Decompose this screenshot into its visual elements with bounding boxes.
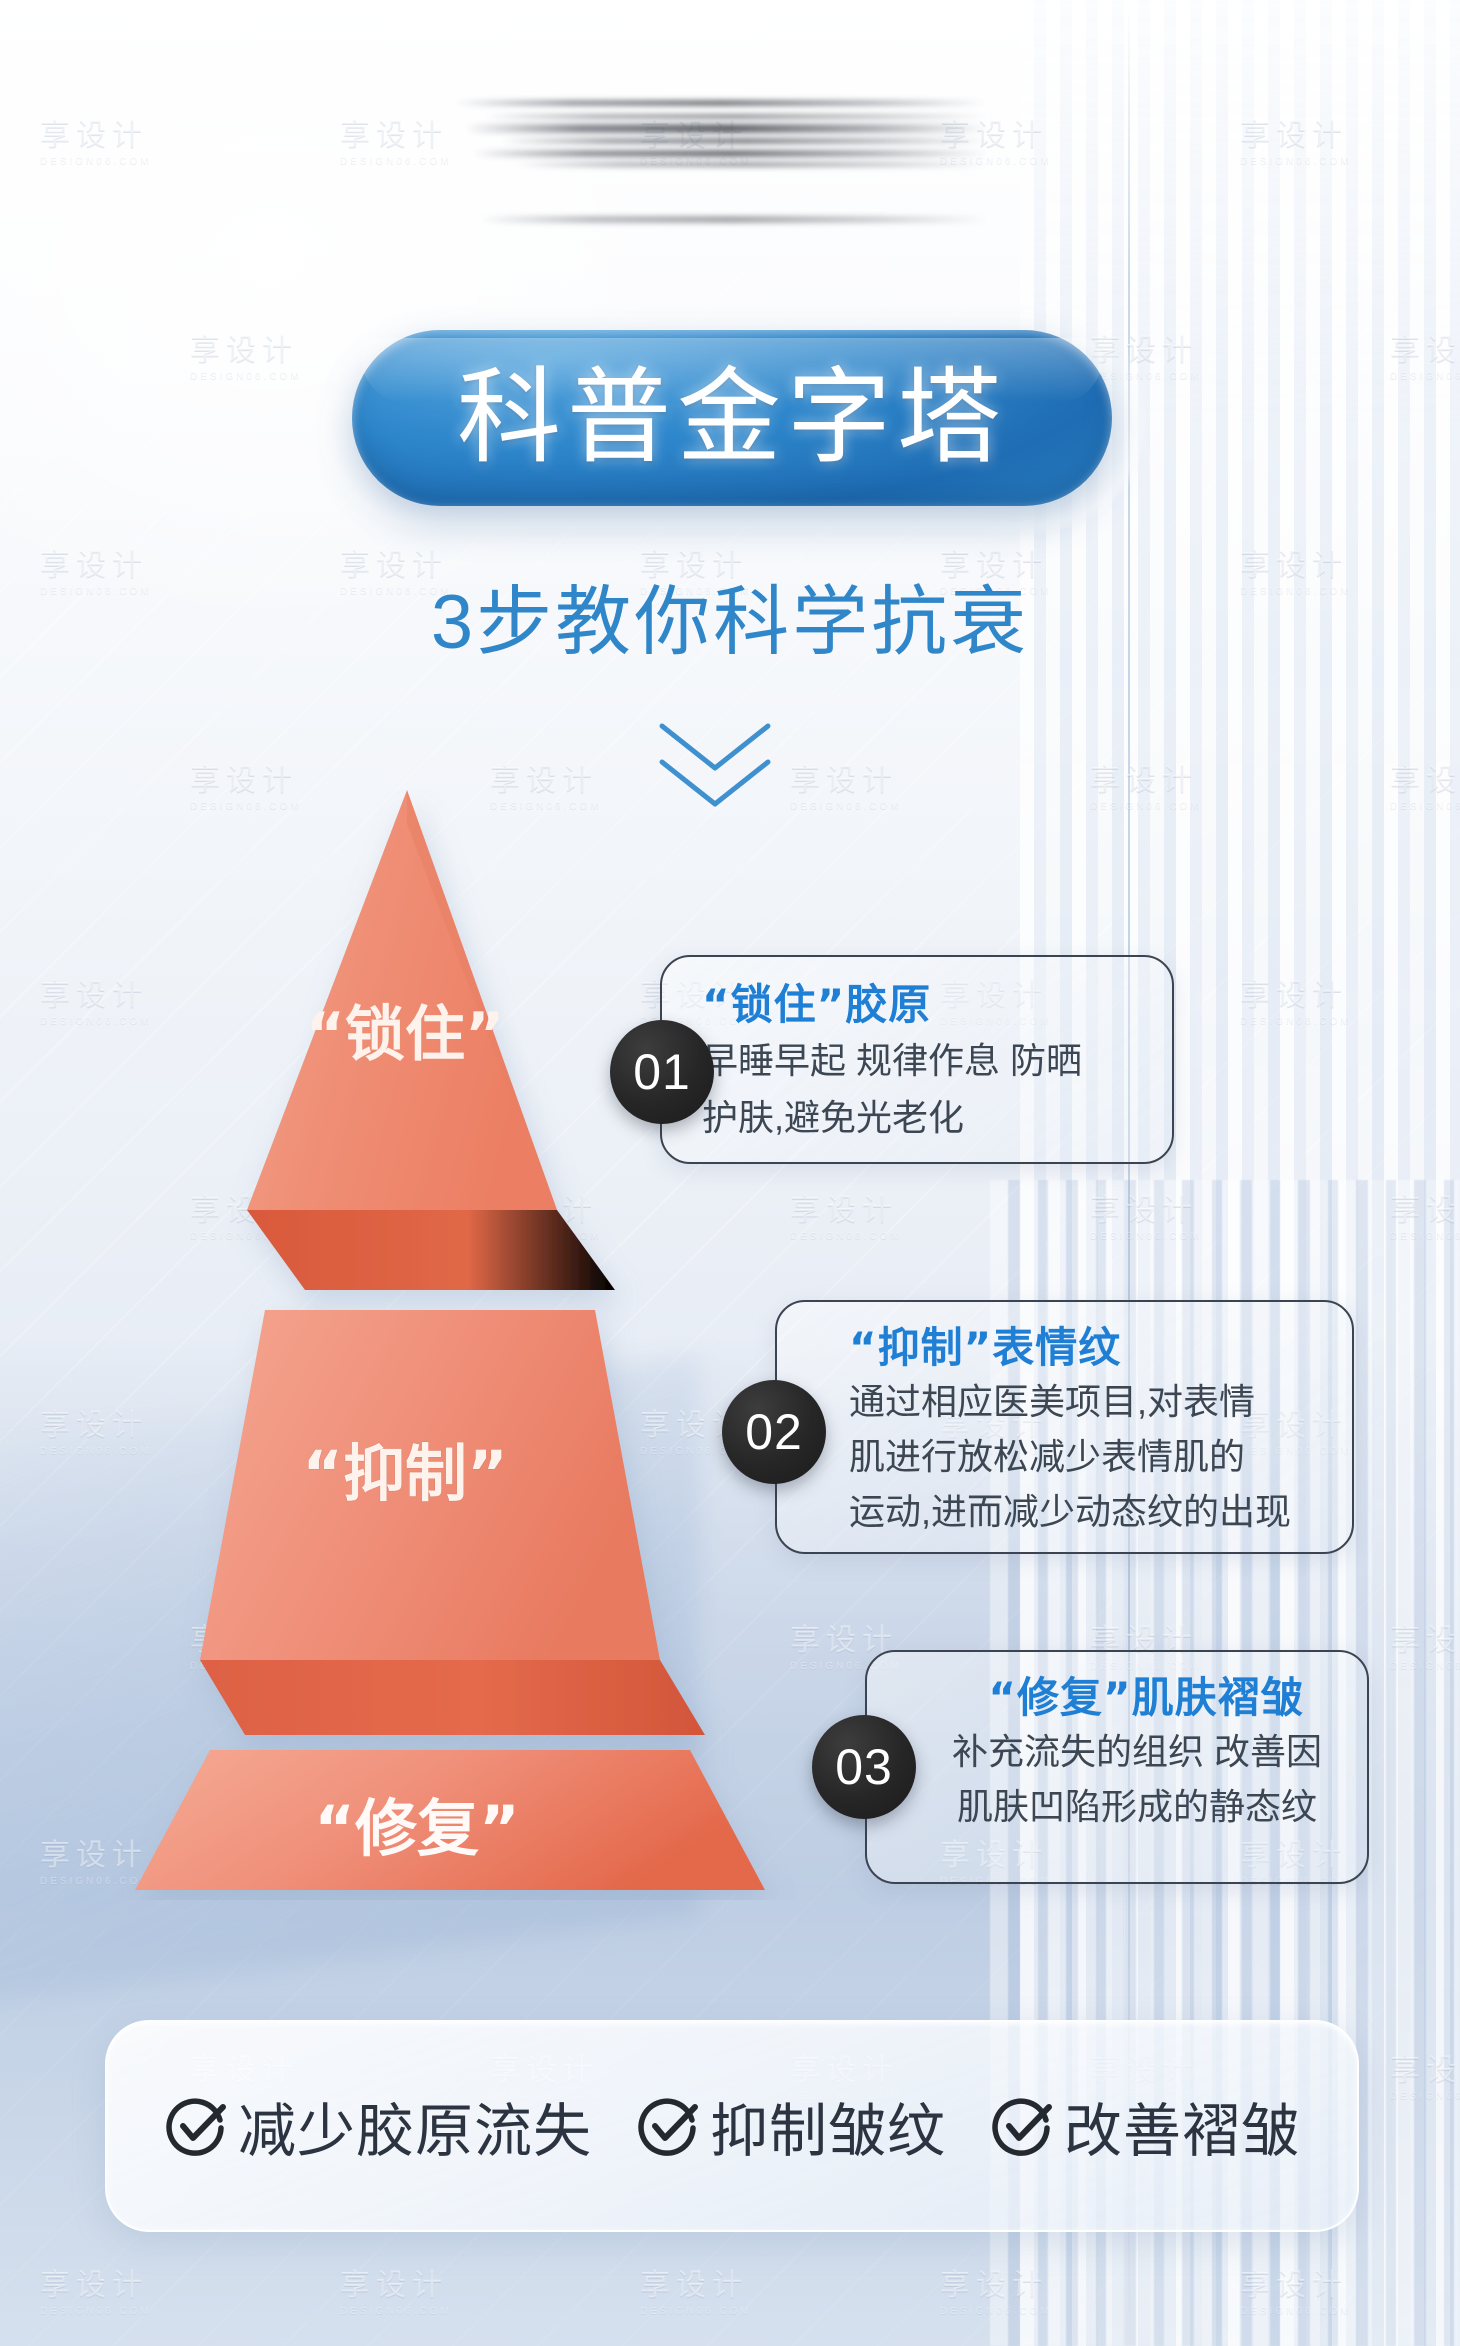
header-blur-bar	[501, 138, 987, 144]
step-card-1[interactable]: “锁住”胶原 早睡早起 规律作息 防晒 护肤,避免光老化	[660, 955, 1174, 1164]
page-subtitle: 3步教你科学抗衰	[0, 560, 1460, 670]
step-card-3-title: “修复”肌肤褶皱	[867, 1652, 1367, 1722]
header-blur-bar	[479, 216, 987, 223]
pyramid-tier-label-2: “抑制”	[302, 1437, 508, 1510]
poster-canvas: 享设计DESIGN06.COM享设计DESIGN06.COM享设计DESIGN0…	[0, 0, 1460, 2346]
step-card-1-line2: 护肤,避免光老化	[662, 1086, 1172, 1143]
step-card-2-line2: 肌进行放松减少表情肌的	[777, 1427, 1352, 1482]
step-number-badge-1: 01	[610, 1020, 714, 1124]
page-title: 科普金字塔	[457, 366, 1007, 470]
header-blur-bar	[465, 124, 987, 133]
check-circle-icon	[636, 2094, 700, 2158]
header-blurred-text-decoration	[455, 100, 995, 240]
step-card-2-title: “抑制”表情纹	[777, 1302, 1352, 1372]
step-card-3-line2: 肌肤凹陷形成的静态纹	[867, 1777, 1367, 1832]
step-number-badge-3: 03	[812, 1715, 916, 1819]
header-blur-bar	[473, 150, 987, 157]
header-blur-bar	[515, 162, 987, 167]
step-card-3[interactable]: “修复”肌肤褶皱 补充流失的组织 改善因 肌肤凹陷形成的静态纹	[865, 1650, 1369, 1884]
step-number-badge-2: 02	[722, 1380, 826, 1484]
header-blur-bar	[485, 114, 987, 119]
benefit-label-3: 改善褶皱	[1064, 2084, 1300, 2168]
title-badge: 科普金字塔	[352, 330, 1112, 506]
header-blur-bar	[455, 100, 987, 106]
benefit-label-1: 减少胶原流失	[238, 2084, 592, 2168]
pyramid-tier-label-3: “修复”	[314, 1792, 520, 1865]
step-card-1-line1: 早睡早起 规律作息 防晒	[662, 1029, 1172, 1086]
check-circle-icon	[990, 2094, 1054, 2158]
pyramid-tier-label-1: “锁住”	[306, 1000, 505, 1070]
benefits-bar: 减少胶原流失 抑制皱纹 改善褶皱	[105, 2020, 1359, 2232]
benefit-item-1[interactable]: 减少胶原流失	[164, 2084, 592, 2168]
step-card-1-title: “锁住”胶原	[662, 957, 1172, 1029]
background-edge-line	[1128, 0, 1130, 2346]
step-card-2-line3: 运动,进而减少动态纹的出现	[777, 1482, 1352, 1537]
benefit-item-3[interactable]: 改善褶皱	[990, 2084, 1300, 2168]
check-circle-icon	[164, 2094, 228, 2158]
benefit-label-2: 抑制皱纹	[710, 2084, 946, 2168]
step-card-2[interactable]: “抑制”表情纹 通过相应医美项目,对表情 肌进行放松减少表情肌的 运动,进而减少…	[775, 1300, 1354, 1554]
step-card-2-line1: 通过相应医美项目,对表情	[777, 1372, 1352, 1427]
step-card-3-line1: 补充流失的组织 改善因	[867, 1722, 1367, 1777]
benefit-item-2[interactable]: 抑制皱纹	[636, 2084, 946, 2168]
